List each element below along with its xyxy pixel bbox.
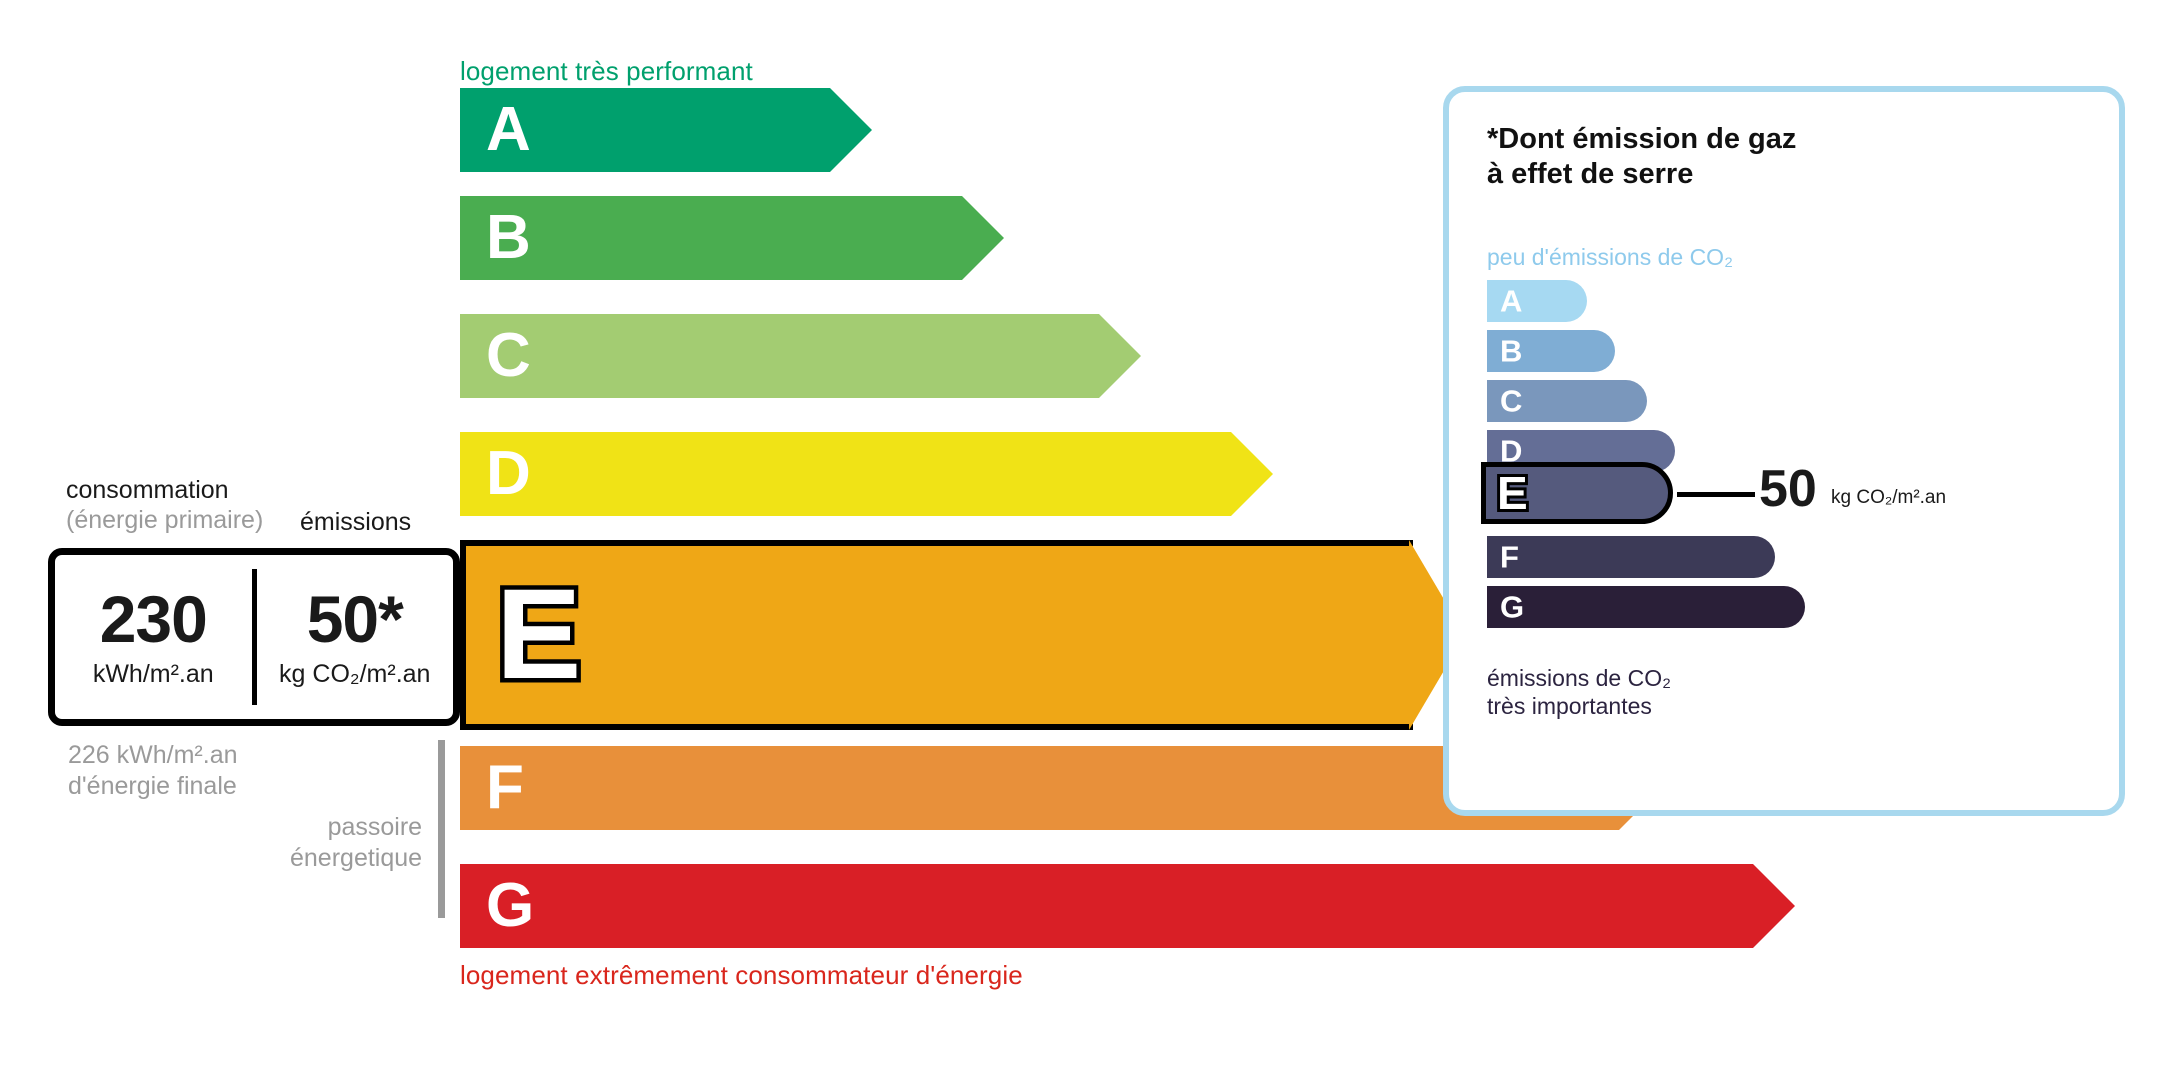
co2-callout-value: 50 — [1759, 463, 1817, 515]
grade-arrow-c-body — [460, 314, 1099, 398]
final-energy-value: 226 kWh/m².an — [68, 741, 238, 769]
emissions-value: 50* — [307, 586, 403, 652]
co2-row-c: C — [1487, 380, 1647, 422]
co2-title-line-2: à effet de serre — [1487, 158, 1693, 190]
co2-bottom-line-2: très importantes — [1487, 693, 1652, 719]
co2-letter-e-current: E — [1497, 470, 1528, 516]
co2-row-g: G — [1487, 586, 1805, 628]
co2-callout-leader-line — [1677, 492, 1755, 497]
co2-letter-a: A — [1500, 286, 1522, 317]
co2-emissions-panel: *Dont émission de gaz à effet de serre p… — [1443, 86, 2125, 816]
co2-top-caption: peu d'émissions de CO₂ — [1487, 244, 1733, 271]
passoire-indicator-bar — [438, 740, 445, 918]
grade-row-d: D — [460, 432, 1273, 516]
co2-letter-f: F — [1500, 542, 1519, 573]
grade-arrow-g: G — [460, 864, 1795, 948]
grade-row-e-current: E — [460, 540, 1465, 730]
grade-arrow-e-body — [460, 540, 1413, 730]
passoire-line-1: passoire — [328, 813, 423, 841]
co2-letter-b: B — [1500, 336, 1522, 367]
grade-arrow-c: C — [460, 314, 1141, 398]
grade-letter-f: F — [486, 757, 524, 819]
co2-bar-f — [1487, 536, 1775, 578]
emissions-header: émissions — [300, 508, 411, 537]
grade-letter-b: B — [486, 207, 531, 269]
co2-row-a: A — [1487, 280, 1587, 322]
passoire-line-2: énergetique — [290, 844, 422, 872]
consumption-value: 230 — [100, 586, 207, 652]
grade-row-a: A — [460, 88, 872, 172]
co2-bottom-caption: émissions de CO₂ très importantes — [1487, 664, 1671, 720]
grade-arrow-e: E — [460, 540, 1465, 730]
grade-arrow-d-body — [460, 432, 1231, 516]
co2-letter-c: C — [1500, 386, 1522, 417]
consumption-value-cell: 230 kWh/m².an — [55, 555, 252, 719]
grade-arrow-d: D — [460, 432, 1273, 516]
grade-arrow-a-tip — [830, 88, 872, 172]
top-caption: logement très performant — [460, 56, 753, 87]
grade-letter-g: G — [486, 875, 534, 937]
grade-letter-a: A — [486, 99, 531, 161]
co2-letter-g: G — [1500, 592, 1524, 623]
passoire-label: passoire énergetique — [290, 812, 422, 873]
grade-arrow-g-tip — [1753, 864, 1795, 948]
consumption-unit: kWh/m².an — [93, 660, 214, 689]
bottom-caption: logement extrêmement consommateur d'éner… — [460, 960, 1023, 991]
grade-arrow-b: B — [460, 196, 1004, 280]
emissions-unit: kg CO₂/m².an — [279, 660, 430, 689]
grade-row-c: C — [460, 314, 1141, 398]
co2-callout-unit: kg CO₂/m².an — [1831, 487, 1946, 509]
consumption-label: consommation — [66, 476, 229, 504]
grade-arrow-b-tip — [962, 196, 1004, 280]
grade-arrow-a: A — [460, 88, 872, 172]
emissions-value-cell: 50* kg CO₂/m².an — [257, 555, 454, 719]
co2-bar-g — [1487, 586, 1805, 628]
grade-arrow-b-body — [460, 196, 962, 280]
grade-letter-c: C — [486, 325, 531, 387]
value-box: 230 kWh/m².an 50* kg CO₂/m².an — [48, 548, 460, 726]
consumption-sublabel: (énergie primaire) — [66, 506, 263, 535]
co2-row-f: F — [1487, 536, 1775, 578]
co2-title-line-1: *Dont émission de gaz — [1487, 123, 1796, 155]
final-energy-note: 226 kWh/m².an d'énergie finale — [68, 740, 238, 801]
grade-arrow-g-body — [460, 864, 1753, 948]
energy-performance-scale: logement très performant A B C D — [0, 0, 1400, 1079]
grade-letter-d: D — [486, 443, 531, 505]
co2-bottom-line-1: émissions de CO₂ — [1487, 665, 1671, 691]
co2-row-b: B — [1487, 330, 1615, 372]
final-energy-sublabel: d'énergie finale — [68, 772, 237, 800]
grade-row-b: B — [460, 196, 1004, 280]
consumption-header: consommation (énergie primaire) — [66, 476, 263, 535]
grade-arrow-c-tip — [1099, 314, 1141, 398]
grade-letter-e-current: E — [496, 571, 581, 699]
grade-arrow-d-tip — [1231, 432, 1273, 516]
grade-row-g: G — [460, 864, 1795, 948]
co2-panel-title: *Dont émission de gaz à effet de serre — [1487, 122, 1796, 193]
